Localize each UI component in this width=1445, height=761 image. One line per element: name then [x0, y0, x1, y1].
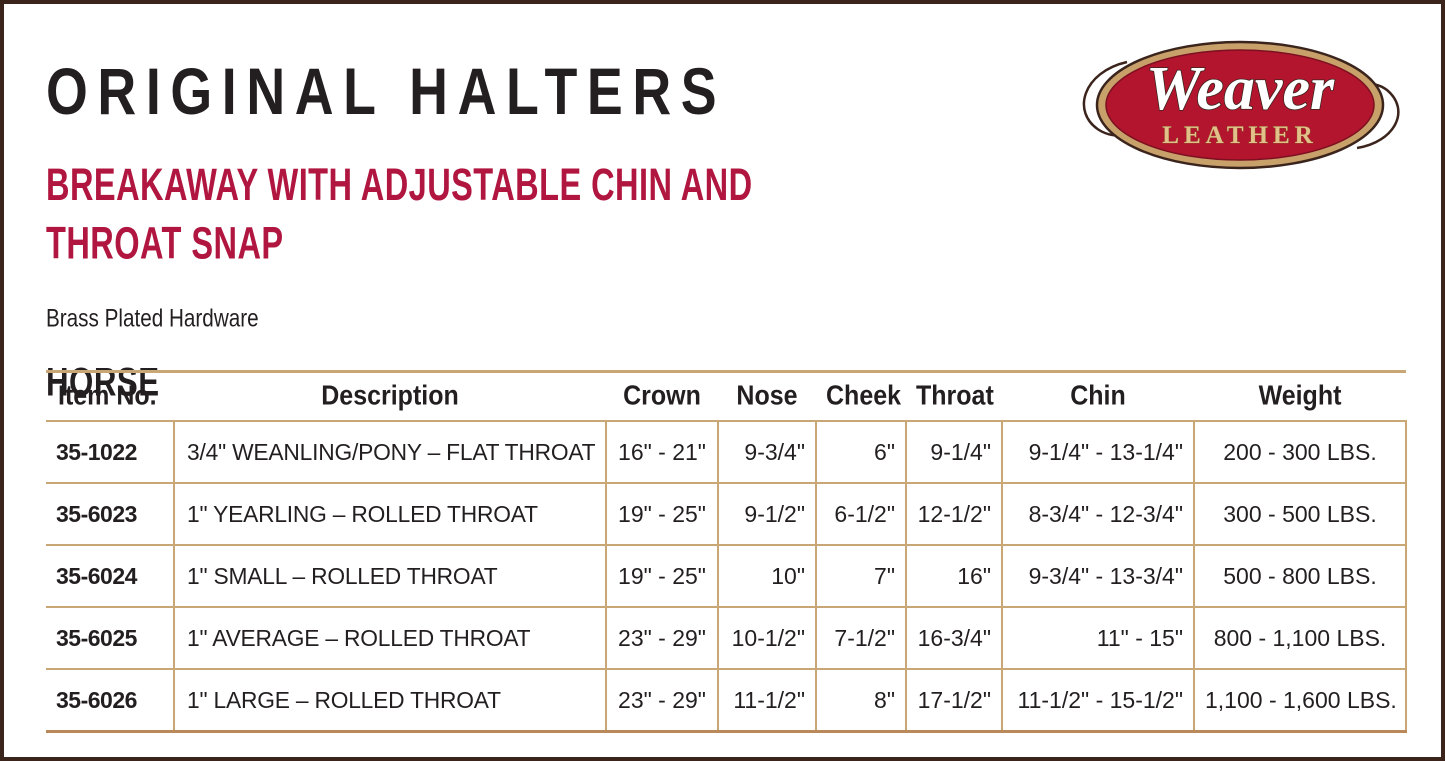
cell-description: 1" LARGE – ROLLED THROAT: [176, 669, 604, 732]
page-title: ORIGINAL HALTERS: [46, 56, 824, 127]
logo-tagline-text: LEATHER: [1162, 122, 1317, 149]
cell-description: 3/4" WEANLING/PONY – FLAT THROAT: [176, 421, 604, 483]
cell-description: 1" AVERAGE – ROLLED THROAT: [176, 607, 604, 669]
cell-crown: 19" - 25": [606, 483, 718, 545]
hardware-note: Brass Plated Hardware: [46, 304, 807, 333]
col-header-cheek: Cheek: [816, 369, 906, 423]
cell-crown: 16" - 21": [606, 421, 718, 483]
cell-item-no: 35-6025: [46, 607, 174, 669]
cell-chin: 11-1/2" - 15-1/2": [1002, 669, 1194, 732]
cell-chin: 9-3/4" - 13-3/4": [1002, 545, 1194, 607]
cell-description: 1" YEARLING – ROLLED THROAT: [176, 483, 604, 545]
cell-throat: 16": [906, 545, 1002, 607]
cell-cheek: 6": [816, 421, 906, 483]
cell-cheek: 7-1/2": [816, 607, 906, 669]
cell-throat: 16-3/4": [906, 607, 1002, 669]
col-header-weight: Weight: [1194, 369, 1406, 423]
cell-chin: 8-3/4" - 12-3/4": [1002, 483, 1194, 545]
weaver-leather-logo: Weaver LEATHER: [1065, 26, 1415, 186]
cell-crown: 19" - 25": [606, 545, 718, 607]
spec-table: Item No. Description Crown Nose Cheek Th…: [46, 370, 1407, 733]
cell-weight: 300 - 500 LBS.: [1194, 483, 1406, 545]
cell-weight: 1,100 - 1,600 LBS.: [1194, 669, 1406, 732]
cell-weight: 200 - 300 LBS.: [1194, 421, 1406, 483]
cell-cheek: 8": [816, 669, 906, 732]
cell-nose: 9-1/2": [718, 483, 816, 545]
col-header-chin: Chin: [1002, 369, 1194, 423]
col-header-item-no: Item No.: [46, 369, 174, 423]
col-header-nose: Nose: [718, 369, 816, 423]
cell-nose: 11-1/2": [718, 669, 816, 732]
cell-throat: 9-1/4": [906, 421, 1002, 483]
cell-chin: 11" - 15": [1002, 607, 1194, 669]
catalog-page: ORIGINAL HALTERS BREAKAWAY WITH ADJUSTAB…: [0, 0, 1445, 761]
table-row: 35-6023 1" YEARLING – ROLLED THROAT 19" …: [46, 483, 1406, 545]
col-header-throat: Throat: [906, 369, 1002, 423]
col-header-description: Description: [174, 369, 606, 423]
spec-table-wrap: Item No. Description Crown Nose Cheek Th…: [46, 370, 1406, 733]
cell-cheek: 7": [816, 545, 906, 607]
cell-cheek: 6-1/2": [816, 483, 906, 545]
cell-description: 1" SMALL – ROLLED THROAT: [176, 545, 604, 607]
logo-svg: Weaver LEATHER: [1065, 26, 1415, 186]
cell-item-no: 35-6026: [46, 669, 174, 732]
logo-brand-text: Weaver: [1146, 55, 1335, 123]
table-row: 35-6025 1" AVERAGE – ROLLED THROAT 23" -…: [46, 607, 1406, 669]
cell-item-no: 35-6024: [46, 545, 174, 607]
spec-table-body: 35-1022 3/4" WEANLING/PONY – FLAT THROAT…: [46, 421, 1406, 732]
cell-chin: 9-1/4" - 13-1/4": [1002, 421, 1194, 483]
table-row: 35-6024 1" SMALL – ROLLED THROAT 19" - 2…: [46, 545, 1406, 607]
cell-weight: 500 - 800 LBS.: [1194, 545, 1406, 607]
cell-nose: 9-3/4": [718, 421, 816, 483]
cell-throat: 17-1/2": [906, 669, 1002, 732]
cell-crown: 23" - 29": [606, 607, 718, 669]
cell-item-no: 35-6023: [46, 483, 174, 545]
cell-weight: 800 - 1,100 LBS.: [1194, 607, 1406, 669]
col-header-crown: Crown: [606, 369, 718, 423]
cell-item-no: 35-1022: [46, 421, 174, 483]
cell-nose: 10-1/2": [718, 607, 816, 669]
cell-throat: 12-1/2": [906, 483, 1002, 545]
table-header-row: Item No. Description Crown Nose Cheek Th…: [46, 372, 1406, 422]
page-subtitle: BREAKAWAY WITH ADJUSTABLE CHIN AND THROA…: [46, 156, 759, 273]
table-row: 35-6026 1" LARGE – ROLLED THROAT 23" - 2…: [46, 669, 1406, 732]
cell-nose: 10": [718, 545, 816, 607]
header-block: ORIGINAL HALTERS BREAKAWAY WITH ADJUSTAB…: [46, 56, 856, 398]
table-row: 35-1022 3/4" WEANLING/PONY – FLAT THROAT…: [46, 421, 1406, 483]
spec-table-head: Item No. Description Crown Nose Cheek Th…: [46, 372, 1406, 422]
cell-crown: 23" - 29": [606, 669, 718, 732]
